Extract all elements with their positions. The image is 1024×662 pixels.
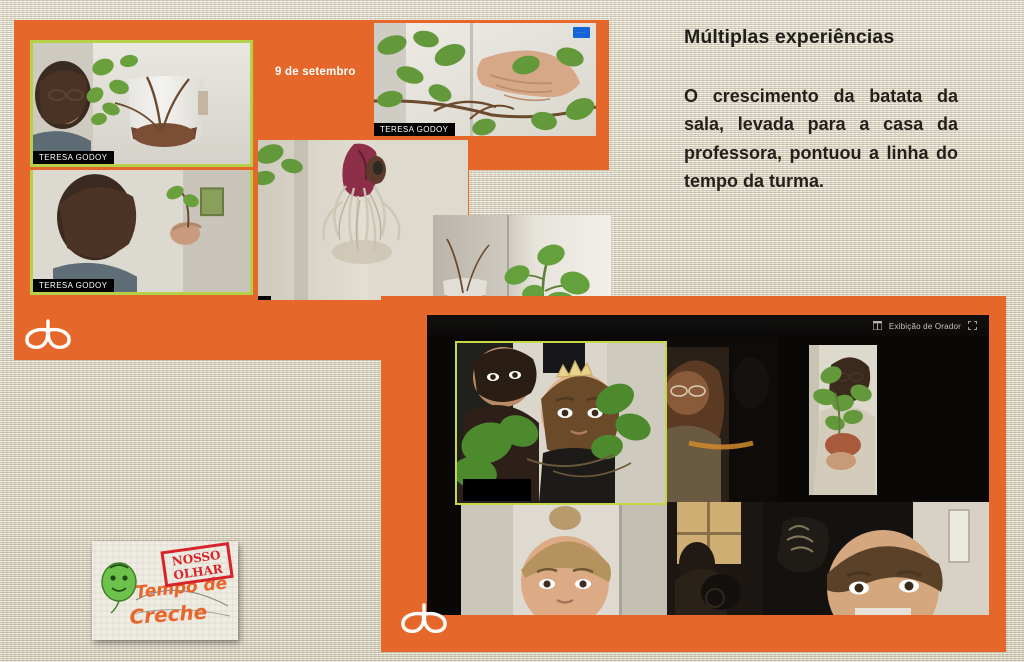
tile-hand-vine-image [374,23,596,136]
body-paragraph: O crescimento da batata da sala, levada … [684,82,958,196]
page-title: Múltiplas experiências [684,26,984,49]
participant-p6-image [763,502,989,615]
video-call-window[interactable]: Exibição de Orador [427,315,989,615]
bow-logo-top [24,318,72,352]
participant-tile-p3[interactable] [667,337,777,502]
bow-logo-icon [24,318,72,352]
video-call-toolbar[interactable]: Exibição de Orador [427,315,989,337]
participant-p1-image [457,343,665,503]
participant-tile-p5[interactable]: TERESA GODOY [809,345,877,495]
participant-p2-image [461,500,667,615]
bow-logo-icon [400,602,448,636]
participant-p5-image [809,345,877,495]
name-badge: TERESA GODOY [33,151,114,164]
participant-tile-p2[interactable] [461,500,667,615]
brand-card-graphic: Tempo de Creche NOSSO OLHAR [92,542,238,640]
video-chip-icon[interactable]: ··· [573,27,590,38]
name-badge [258,296,271,300]
name-badge: TERESA GODOY [33,279,114,292]
grid-view-icon[interactable] [873,317,882,335]
participant-tile-p1-active-speaker[interactable] [455,341,667,505]
participant-p3-image [667,337,777,502]
participant-p4-image [667,502,763,615]
fullscreen-icon[interactable] [968,317,977,335]
participant-grid: TERESA GODOY [427,337,989,615]
tile-teresa-2-image [33,170,250,292]
tile-teresa-1-image [33,43,250,164]
video-tile-hand-vine[interactable]: ··· TERESA GODOY [374,23,596,136]
participant-tile-p6[interactable] [763,502,989,615]
bow-logo-bottom [400,602,448,636]
date-label: 9 de setembro [275,66,356,78]
speaker-view-label[interactable]: Exibição de Orador [889,322,961,331]
video-tile-teresa-2[interactable]: TERESA GODOY [30,170,253,295]
video-tile-teresa-1[interactable]: TERESA GODOY [30,40,253,167]
name-badge: TERESA GODOY [374,123,455,136]
text-column: Múltiplas experiências O crescimento da … [684,26,984,196]
brand-card-tempo-de-creche: Tempo de Creche NOSSO OLHAR [92,542,238,640]
participant-tile-p4[interactable] [667,502,763,615]
